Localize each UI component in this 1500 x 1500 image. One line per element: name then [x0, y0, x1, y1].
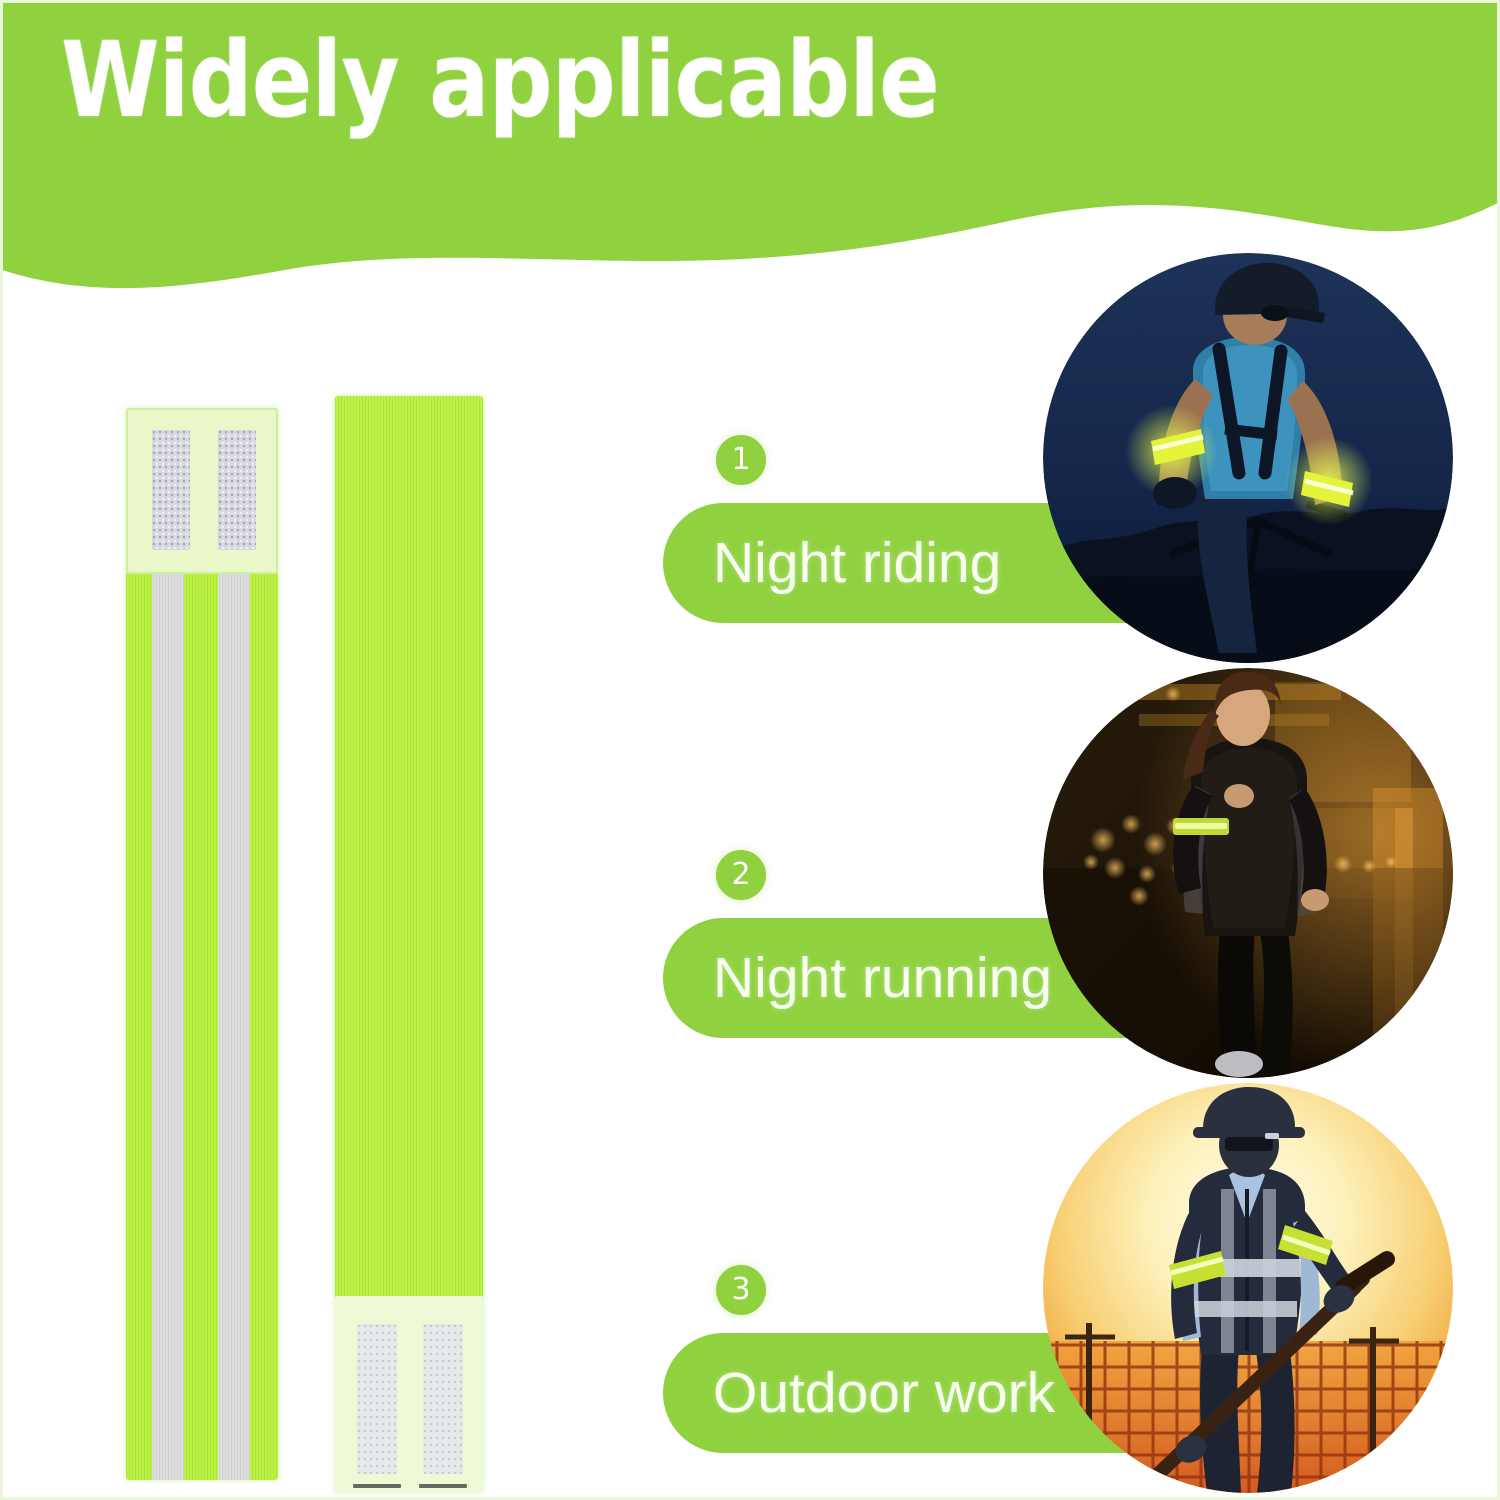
- outdoor-worker-photo: [1043, 1083, 1453, 1493]
- feature-label-1: Night riding: [713, 503, 1001, 623]
- stitch-line-right: [419, 1484, 467, 1488]
- night-runner-photo: [1043, 668, 1453, 1078]
- page-title: Widely applicable: [61, 25, 939, 135]
- product-image-group: [103, 383, 523, 1493]
- feature-number-badge-1: 1: [716, 435, 766, 485]
- feature-label-3: Outdoor work: [713, 1333, 1055, 1453]
- stitch-line-left: [353, 1484, 401, 1488]
- feature-number-badge-2: 2: [716, 850, 766, 900]
- feature-number-badge-3: 3: [716, 1265, 766, 1315]
- velcro-patch-top: [126, 408, 278, 574]
- velcro-patch-bottom: [335, 1296, 483, 1492]
- night-runner-illustration: [1043, 668, 1453, 1078]
- outdoor-worker-illustration: [1043, 1083, 1453, 1493]
- night-cyclist-photo: [1043, 253, 1453, 663]
- night-cyclist-illustration: [1043, 253, 1453, 663]
- feature-label-2: Night running: [713, 918, 1052, 1038]
- infographic-page: Widely applicable 1 Night riding: [0, 0, 1500, 1500]
